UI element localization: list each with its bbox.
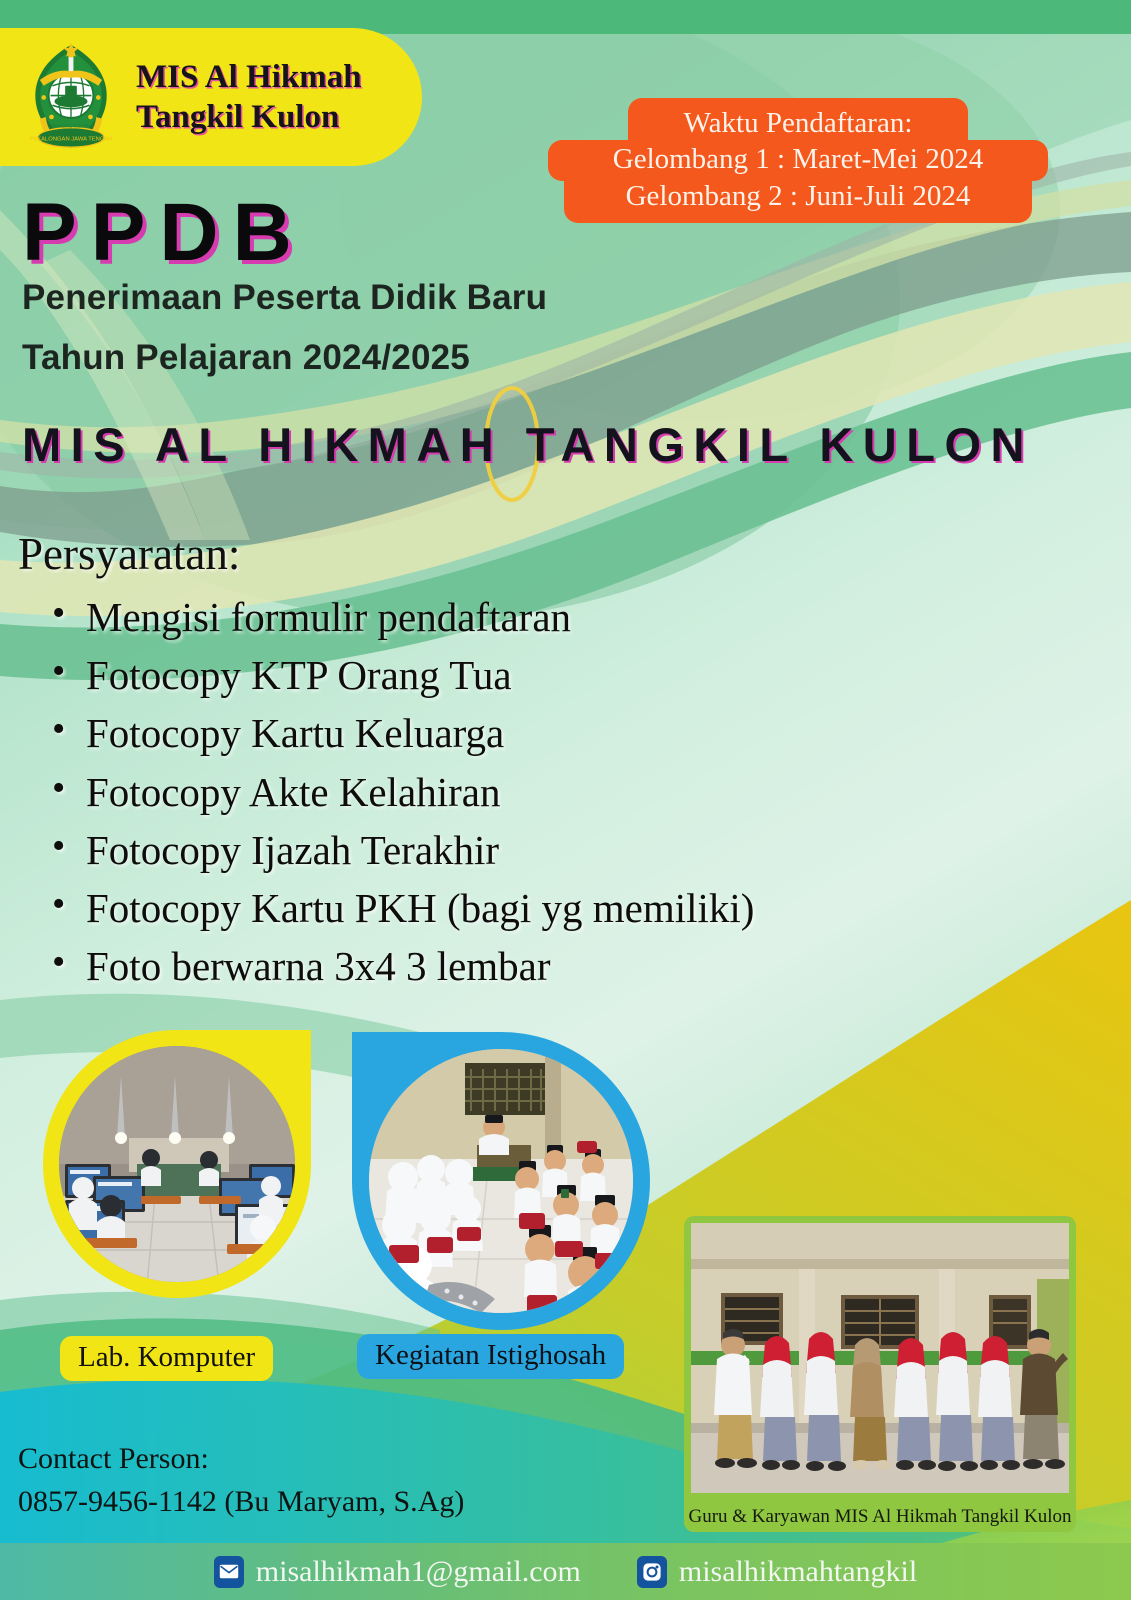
registration-schedule-badge: Waktu Pendaftaran: Gelombang 1 : Maret-M… <box>548 98 1048 223</box>
instagram-icon <box>637 1556 667 1588</box>
list-item: Fotocopy Kartu PKH (bagi yg memiliki) <box>46 879 754 937</box>
footer-social-bar: misalhikmah1@gmail.com misalhikmahtangki… <box>0 1543 1131 1600</box>
svg-text:PEKALONGAN JAWA TENGAH: PEKALONGAN JAWA TENGAH <box>29 136 112 142</box>
list-item: Fotocopy Ijazah Terakhir <box>46 821 754 879</box>
schedule-wave-1: Gelombang 1 : Maret-Mei 2024 <box>548 140 1048 180</box>
teachers-photo-panel: Guru & Karyawan MIS Al Hikmah Tangkil Ku… <box>684 1216 1076 1532</box>
list-item: Fotocopy Kartu Keluarga <box>46 704 754 762</box>
computer-lab-photo-frame <box>43 1030 311 1298</box>
nu-shield-emblem-icon: PEKALONGAN JAWA TENGAH TANGKIL KULON <box>22 41 120 153</box>
envelope-icon <box>214 1556 244 1588</box>
school-heading: MIS AL HIKMAH TANGKIL KULON <box>22 417 1112 472</box>
ppdb-poster: PEKALONGAN JAWA TENGAH TANGKIL KULON MIS… <box>0 0 1131 1600</box>
istighosah-photo-frame <box>352 1032 650 1330</box>
list-item: Fotocopy Akte Kelahiran <box>46 763 754 821</box>
istighosah-photo <box>369 1049 633 1313</box>
contact-phone: 0857-9456-1142 (Bu Maryam, S.Ag) <box>18 1481 464 1524</box>
list-item: Foto berwarna 3x4 3 lembar <box>46 937 754 995</box>
school-logo-pill: PEKALONGAN JAWA TENGAH TANGKIL KULON MIS… <box>0 28 422 166</box>
ppdb-subtitle-1: Penerimaan Peserta Didik Baru <box>22 278 547 318</box>
computer-lab-photo <box>59 1046 295 1282</box>
school-logo-text: MIS Al Hikmah Tangkil Kulon <box>136 57 362 138</box>
list-item: Mengisi formulir pendaftaran <box>46 588 754 646</box>
footer-instagram-item[interactable]: misalhikmahtangkil <box>637 1555 917 1589</box>
list-item: Fotocopy KTP Orang Tua <box>46 646 754 704</box>
svg-text:TANGKIL KULON: TANGKIL KULON <box>52 124 91 130</box>
ppdb-acronym: PPDB <box>22 186 306 280</box>
computer-lab-caption: Lab. Komputer <box>60 1336 273 1381</box>
contact-block: Contact Person: 0857-9456-1142 (Bu Marya… <box>18 1438 464 1523</box>
requirements-heading: Persyaratan: <box>18 528 240 580</box>
school-name-line2: Tangkil Kulon <box>136 97 362 137</box>
school-name-line1: MIS Al Hikmah <box>136 57 362 97</box>
teachers-photo <box>691 1223 1069 1493</box>
requirements-list: Mengisi formulir pendaftaran Fotocopy KT… <box>46 588 754 996</box>
footer-instagram-text: misalhikmahtangkil <box>679 1555 917 1589</box>
istighosah-caption: Kegiatan Istighosah <box>357 1334 624 1379</box>
schedule-title: Waktu Pendaftaran: <box>628 98 968 144</box>
contact-label: Contact Person: <box>18 1438 464 1481</box>
footer-email-text: misalhikmah1@gmail.com <box>256 1555 581 1589</box>
footer-email-item[interactable]: misalhikmah1@gmail.com <box>214 1555 581 1589</box>
schedule-wave-2: Gelombang 2 : Juni-Juli 2024 <box>564 177 1032 223</box>
teachers-caption: Guru & Karyawan MIS Al Hikmah Tangkil Ku… <box>684 1506 1076 1528</box>
ppdb-subtitle-2: Tahun Pelajaran 2024/2025 <box>22 338 470 378</box>
